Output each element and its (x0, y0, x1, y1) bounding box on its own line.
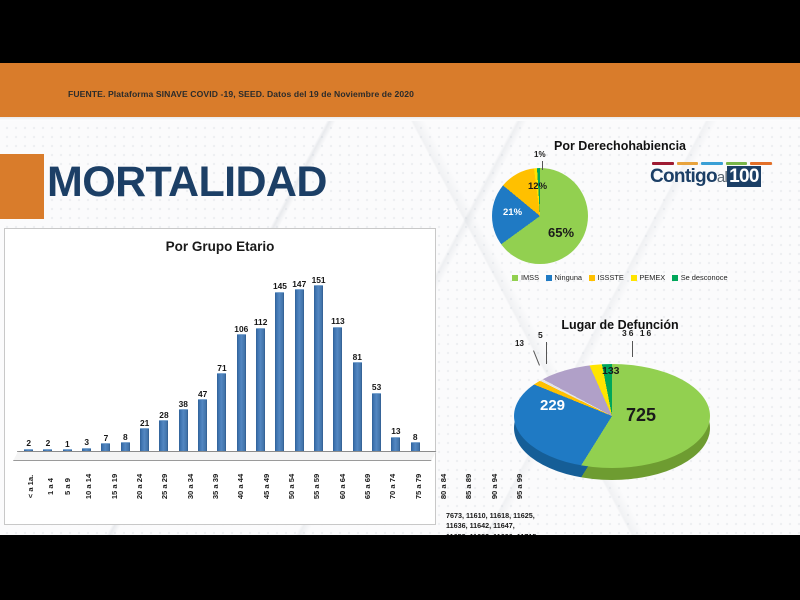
pie2-label-hgrr: 5 (538, 331, 543, 340)
bar-value-label: 106 (234, 325, 248, 333)
bar-value-label: 81 (353, 353, 362, 361)
case-number-line: 7673, 11610, 11618, 11625, (446, 511, 596, 521)
bar (101, 443, 110, 451)
logo-dash (750, 162, 772, 165)
presentation-slide: FUENTE. Plataforma SINAVE COVID -19, SEE… (0, 63, 800, 535)
bar-value-label: 151 (312, 276, 326, 284)
x-axis-tick-label: 75 a 79 (406, 462, 431, 524)
bar-value-label: 28 (159, 411, 168, 419)
bar-column: 1 (58, 264, 77, 451)
logo-wordmark: Contigoal100 (650, 167, 774, 187)
bar-value-label: 2 (46, 439, 51, 447)
bar-value-label: 8 (413, 433, 418, 441)
x-axis-tick-label: 50 a 54 (279, 462, 304, 524)
bar-value-label: 47 (198, 390, 207, 398)
x-axis-tick-label: 15 a 19 (102, 462, 127, 524)
bar (179, 409, 188, 451)
logo-dashes (650, 162, 774, 165)
pie2-leader-line-hgtm (533, 350, 540, 365)
x-axis-tick-label: 1 a 4 (42, 462, 59, 524)
bar-column: 3 (77, 264, 96, 451)
legend-swatch-icon (546, 275, 552, 281)
pie2-label-hg-issste: 133 (602, 366, 620, 377)
bar (372, 393, 381, 451)
legend-item: Ninguna (546, 273, 582, 282)
bar (353, 362, 362, 451)
bar (256, 328, 265, 451)
bar-value-label: 8 (123, 433, 128, 441)
bar-column: 112 (251, 264, 270, 451)
pie2-leader-line-domicilio (632, 341, 633, 357)
legend-swatch-icon (589, 275, 595, 281)
bar (411, 442, 420, 451)
bar (140, 428, 149, 451)
bar (159, 420, 168, 451)
bar-column: 8 (116, 264, 135, 451)
bar-value-label: 3 (84, 438, 89, 446)
x-axis-tick-label: 20 a 24 (127, 462, 152, 524)
bar (333, 327, 342, 451)
pie2-leader-line-hgrr (546, 342, 547, 364)
slide-screenshot: FUENTE. Plataforma SINAVE COVID -19, SEE… (0, 0, 800, 600)
bar-column: 8 (406, 264, 425, 451)
pie1-title: Por Derechohabiencia (440, 139, 800, 153)
x-axis-tick-label: 60 a 64 (330, 462, 355, 524)
x-axis-tick-label: 45 a 49 (254, 462, 279, 524)
legend-item: ISSSTE (589, 273, 624, 282)
logo-dash (652, 162, 674, 165)
bar-value-label: 145 (273, 282, 287, 290)
bar-chart-x-axis: < a 1a.1 a 45 a 910 a 1415 a 1920 a 2425… (19, 462, 425, 524)
bar-chart-title: Por Grupo Etario (5, 239, 435, 254)
bar-column: 38 (174, 264, 193, 451)
pie1-label-imss: 65% (548, 226, 574, 239)
lugar-defuncion-pie-chart: 725 229 13 5 133 36 16 (514, 354, 710, 484)
bar-column: 81 (348, 264, 367, 451)
banner-shadow (0, 117, 800, 121)
bar-value-label: 1 (65, 440, 70, 448)
pie1-label-ninguna: 21% (503, 208, 522, 218)
bar-column: 47 (193, 264, 212, 451)
bar (237, 334, 246, 451)
bar-column: 151 (309, 264, 328, 451)
x-axis-tick-label: 65 a 69 (355, 462, 380, 524)
bar-chart-card: Por Grupo Etario 22137821283847711061121… (4, 228, 436, 525)
bar-chart-plot: 2213782128384771106112145147151113815313… (19, 264, 425, 451)
bar (295, 289, 304, 451)
x-axis-tick-label: 40 a 44 (228, 462, 253, 524)
logo-al: al (717, 169, 727, 186)
logo-100: 100 (727, 166, 761, 187)
right-panel: Por Derechohabiencia 65% 21% 12% 1% Cont… (440, 126, 800, 535)
bar-value-label: 38 (179, 400, 188, 408)
bar-column: 13 (386, 264, 405, 451)
bar (391, 437, 400, 451)
bar-column: 21 (135, 264, 154, 451)
pie1-label-issste: 12% (528, 182, 547, 192)
bar (314, 285, 323, 451)
bar-column: 145 (270, 264, 289, 451)
x-axis-tick-label: 10 a 14 (76, 462, 101, 524)
bar-column: 113 (328, 264, 347, 451)
case-number-line: 11658, 11682, 11690, 11715 (446, 532, 596, 535)
x-axis-tick-label: < a 1a. (19, 462, 42, 524)
legend-item: Se desconoce (672, 273, 727, 282)
contigo-al-100-logo: Contigoal100 (650, 162, 774, 187)
bar (217, 373, 226, 451)
bar-value-label: 13 (391, 427, 400, 435)
bar-column: 28 (154, 264, 173, 451)
bar-column: 53 (367, 264, 386, 451)
source-banner: FUENTE. Plataforma SINAVE COVID -19, SEE… (0, 63, 800, 117)
bar-value-label: 53 (372, 383, 381, 391)
x-axis-tick-label: 30 a 34 (178, 462, 203, 524)
legend-swatch-icon (672, 275, 678, 281)
legend-item: PEMEX (631, 273, 665, 282)
legend-label: IMSS (521, 273, 539, 282)
bar-value-label: 21 (140, 419, 149, 427)
pie2-label-chmh: 229 (540, 398, 565, 413)
bar-value-label: 112 (254, 318, 268, 326)
legend-label: ISSSTE (598, 273, 624, 282)
title-label: MORTALIDAD (47, 161, 327, 204)
bar (121, 442, 130, 451)
bar (275, 292, 284, 452)
legend-label: PEMEX (639, 273, 665, 282)
case-number-line: 11636, 11642, 11647, (446, 521, 596, 531)
bar-value-label: 113 (331, 317, 345, 325)
pie2-title: Lugar de Defunción (440, 318, 800, 332)
logo-contigo: Contigo (650, 166, 717, 187)
pie2-label-hgtm: 13 (515, 340, 524, 348)
pie2-label-domicilio-clinica: 36 16 (622, 329, 653, 338)
x-axis-tick-label: 55 a 59 (304, 462, 329, 524)
pie1-legend: IMSSNingunaISSSTEPEMEXSe desconoce (440, 273, 800, 282)
x-axis-tick-label: 35 a 39 (203, 462, 228, 524)
legend-item: IMSS (512, 273, 539, 282)
bar-column: 7 (96, 264, 115, 451)
bar-column: 106 (232, 264, 251, 451)
bar-column: 2 (38, 264, 57, 451)
chart-floor (13, 451, 436, 461)
derechohabiencia-pie-chart: 65% 21% 12% 1% (492, 168, 588, 264)
pie2-circle (514, 364, 710, 468)
pie1-leader-line (542, 161, 543, 170)
source-text: FUENTE. Plataforma SINAVE COVID -19, SEE… (68, 89, 414, 99)
bar-value-label: 147 (292, 280, 306, 288)
case-numbers-note: 7673, 11610, 11618, 11625,11636, 11642, … (446, 511, 596, 535)
bar (198, 399, 207, 451)
bar-column: 147 (290, 264, 309, 451)
bar-value-label: 71 (217, 364, 226, 372)
logo-dash (726, 162, 748, 165)
bar-value-label: 2 (26, 439, 31, 447)
legend-label: Se desconoce (681, 273, 728, 282)
x-axis-tick-label: 5 a 9 (59, 462, 76, 524)
logo-dash (701, 162, 723, 165)
logo-dash (677, 162, 699, 165)
legend-swatch-icon (512, 275, 518, 281)
bar-column: 2 (19, 264, 38, 451)
pie2-label-imss: 725 (626, 406, 656, 424)
x-axis-tick-label: 70 a 74 (380, 462, 405, 524)
legend-swatch-icon (631, 275, 637, 281)
pie1-label-pemex: 1% (534, 151, 546, 159)
title-accent-bar (0, 154, 44, 219)
x-axis-tick-label: 25 a 29 (152, 462, 177, 524)
bar-value-label: 7 (104, 434, 109, 442)
bar-column: 71 (212, 264, 231, 451)
legend-label: Ninguna (555, 273, 583, 282)
